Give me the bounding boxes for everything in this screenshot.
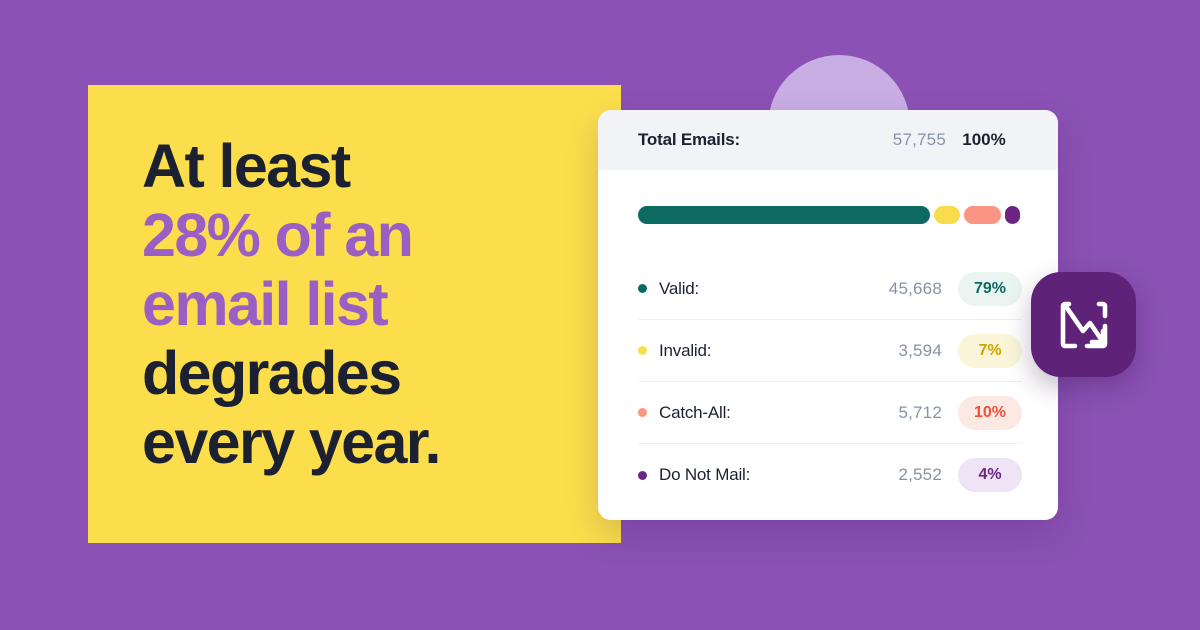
status-dot-icon: [638, 346, 647, 355]
row-label: Invalid:: [659, 341, 838, 361]
row-percent-badge: 7%: [958, 334, 1022, 368]
page-title: At least 28% of an email list degrades e…: [142, 132, 612, 477]
app-badge[interactable]: [1031, 272, 1136, 377]
bar-segment-invalid: [934, 206, 960, 224]
row-label: Do Not Mail:: [659, 465, 838, 485]
row-percent-badge: 4%: [958, 458, 1022, 492]
poster-canvas: At least 28% of an email list degrades e…: [0, 0, 1200, 630]
card-header: Total Emails: 57,755 100%: [598, 110, 1058, 170]
row-percent-badge: 79%: [958, 272, 1022, 306]
row-count: 3,594: [838, 341, 942, 361]
headline-line-1: At least: [142, 132, 612, 201]
table-row[interactable]: Do Not Mail:2,5524%: [638, 444, 1022, 506]
declining-chart-icon: [1057, 298, 1111, 352]
table-row[interactable]: Invalid:3,5947%: [638, 320, 1022, 382]
row-count: 5,712: [838, 403, 942, 423]
row-count: 45,668: [838, 279, 942, 299]
bar-segment-valid: [638, 206, 930, 224]
headline-line-3: email list: [142, 270, 612, 339]
headline-line-4: degrades: [142, 339, 612, 408]
total-emails-label: Total Emails:: [638, 130, 836, 150]
status-dot-icon: [638, 408, 647, 417]
headline-line-5: every year.: [142, 408, 612, 477]
status-dot-icon: [638, 284, 647, 293]
row-percent-badge: 10%: [958, 396, 1022, 430]
headline-line-2: 28% of an: [142, 201, 612, 270]
row-count: 2,552: [838, 465, 942, 485]
email-stats-card: Total Emails: 57,755 100% Valid:45,66879…: [598, 110, 1058, 520]
table-row[interactable]: Catch-All:5,71210%: [638, 382, 1022, 444]
status-dot-icon: [638, 471, 647, 480]
breakdown-list: Valid:45,66879%Invalid:3,5947%Catch-All:…: [598, 258, 1058, 506]
total-emails-percent: 100%: [946, 130, 1022, 150]
row-label: Catch-All:: [659, 403, 838, 423]
table-row[interactable]: Valid:45,66879%: [638, 258, 1022, 320]
bar-segment-do-not-mail: [1005, 206, 1020, 224]
total-emails-count: 57,755: [836, 130, 946, 150]
row-label: Valid:: [659, 279, 838, 299]
distribution-bar: [598, 170, 1058, 224]
bar-segment-catch-all: [964, 206, 1001, 224]
